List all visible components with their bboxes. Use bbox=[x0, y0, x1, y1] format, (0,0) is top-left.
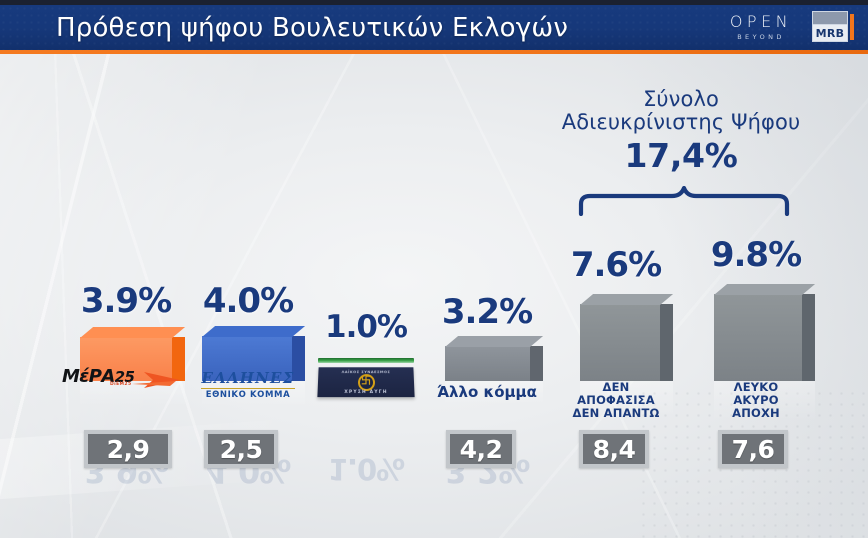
mera25-diem-text: DiEM25 bbox=[110, 382, 132, 387]
bar-value-label-xrysi-avgi: 1.0% bbox=[308, 309, 424, 345]
bar-rect-allo-komma bbox=[445, 346, 530, 381]
previous-value-text-ellines: 2,5 bbox=[220, 435, 263, 464]
bar-top-lefko-akyro bbox=[714, 284, 815, 295]
bar-value-label-lefko-akyro: 9.8% bbox=[690, 235, 822, 275]
bar-top-ellines bbox=[202, 326, 305, 337]
xrysi-avgi-top-text: ΛΑΪΚΟΣ ΣΥΝΔΕΣΜΟΣ bbox=[318, 370, 413, 374]
bar-caption-lefko-akyro: ΛΕΥΚΟ ΑΚΥΡΟ ΑΠΟΧΗ bbox=[690, 381, 822, 421]
mrb-logo: MRB bbox=[812, 11, 848, 42]
bar-value-label-allo-komma: 3.2% bbox=[425, 292, 549, 332]
mrb-logo-top-block bbox=[812, 11, 848, 24]
bar-column-den-apofasisa[interactable]: 7.6% ΔΕΝ ΑΠΟΦΑΣΙΣΑ ΔΕΝ ΑΠΑΝΤΩ 8,4 bbox=[552, 54, 680, 538]
previous-value-badge-mera25: 2,9 bbox=[84, 430, 172, 468]
bar-rect-lefko-akyro bbox=[714, 294, 802, 381]
previous-value-text-allo-komma: 4,2 bbox=[460, 435, 503, 464]
ellines-logo-sub: ΕΘΝΙΚΟ ΚΟΜΜΑ bbox=[186, 390, 310, 400]
bar-column-allo-komma[interactable]: 3.2% 3.2% Άλλο κόμμα 4,2 bbox=[425, 54, 549, 538]
bar-column-lefko-akyro[interactable]: 9.8% ΛΕΥΚΟ ΑΚΥΡΟ ΑΠΟΧΗ 7,6 bbox=[690, 54, 822, 538]
previous-value-text-mera25: 2,9 bbox=[107, 435, 150, 464]
previous-value-text-den-apofasisa: 8,4 bbox=[593, 435, 636, 464]
ellines-logo-main: ΕΛΛΗΝΕΣ bbox=[201, 369, 294, 389]
bar-value-label-den-apofasisa: 7.6% bbox=[552, 245, 680, 285]
open-logo-sub: BEYOND bbox=[718, 34, 804, 41]
xrysi-avgi-bottom-text: ΧΡΥΣΗ ΑΥΓΗ bbox=[317, 390, 414, 395]
bar-caption-line3-den-apofasisa: ΔΕΝ ΑΠΑΝΤΩ bbox=[552, 407, 680, 420]
open-beyond-logo: OPEN BEYOND bbox=[718, 14, 804, 41]
bar-top-allo-komma bbox=[445, 336, 543, 347]
open-logo-main: OPEN bbox=[718, 14, 804, 30]
bar-face-allo-komma bbox=[445, 346, 530, 381]
bar-caption-allo-komma: Άλλο κόμμα bbox=[425, 384, 549, 401]
mrb-logo-text: MRB bbox=[816, 27, 845, 40]
bar-face-den-apofasisa bbox=[580, 304, 660, 381]
bar-caption-line3-lefko-akyro: ΑΠΟΧΗ bbox=[690, 407, 822, 420]
bar-value-label-ellines: 4.0% bbox=[186, 281, 310, 321]
xrysi-avgi-meander-icon: 卐 bbox=[361, 377, 371, 387]
party-logo-ellines: ΕΛΛΗΝΕΣ ΕΘΝΙΚΟ ΚΟΜΜΑ bbox=[186, 368, 310, 400]
bar-top-mera25 bbox=[80, 327, 185, 338]
header-orange-accent bbox=[850, 14, 854, 40]
bar-side-den-apofasisa bbox=[660, 304, 673, 381]
previous-value-badge-ellines: 2,5 bbox=[204, 430, 278, 468]
bar-side-allo-komma bbox=[530, 346, 543, 381]
mrb-logo-bottom-block: MRB bbox=[812, 24, 848, 42]
previous-value-badge-den-apofasisa: 8,4 bbox=[579, 430, 649, 468]
xrysi-avgi-plate: ΛΑΪΚΟΣ ΣΥΝΔΕΣΜΟΣ 卐 ΧΡΥΣΗ ΑΥΓΗ bbox=[317, 367, 414, 397]
page-title: Πρόθεση ψήφου Βουλευτικών Εκλογών bbox=[56, 7, 568, 48]
previous-value-badge-lefko-akyro: 7,6 bbox=[718, 430, 788, 468]
bar-chart: 3.9% 3.9% ΜέΡΑ25 DiEM25 2,9 4 bbox=[0, 54, 868, 538]
party-logo-xrysi-avgi: ΛΑΪΚΟΣ ΣΥΝΔΕΣΜΟΣ 卐 ΧΡΥΣΗ ΑΥΓΗ bbox=[318, 358, 414, 397]
bar-top-den-apofasisa bbox=[580, 294, 673, 305]
xrysi-avgi-green-bar bbox=[318, 358, 414, 363]
bar-face-lefko-akyro bbox=[714, 294, 802, 381]
bar-column-ellines[interactable]: 4.0% 4.0% ΕΛΛΗΝΕΣ ΕΘΝΙΚΟ ΚΟΜΜΑ 2,5 bbox=[186, 54, 310, 538]
party-logo-mera25: ΜέΡΑ25 DiEM25 bbox=[58, 364, 194, 390]
bar-value-ghost-xrysi-avgi: 1.0% bbox=[308, 452, 424, 486]
xrysi-avgi-emblem: 卐 bbox=[357, 374, 374, 391]
bar-side-lefko-akyro bbox=[802, 294, 815, 381]
infographic-screen: Πρόθεση ψήφου Βουλευτικών Εκλογών OPEN B… bbox=[0, 0, 868, 538]
mera25-name: ΜέΡΑ bbox=[62, 366, 115, 387]
previous-value-badge-allo-komma: 4,2 bbox=[446, 430, 516, 468]
previous-value-text-lefko-akyro: 7,6 bbox=[732, 435, 775, 464]
bar-column-xrysi-avgi[interactable]: 1.0% 1.0% ΛΑΪΚΟΣ ΣΥΝΔΕΣΜΟΣ 卐 ΧΡΥΣΗ ΑΥΓΗ bbox=[308, 54, 424, 538]
bar-caption-den-apofasisa: ΔΕΝ ΑΠΟΦΑΣΙΣΑ ΔΕΝ ΑΠΑΝΤΩ bbox=[552, 381, 680, 421]
bar-rect-den-apofasisa bbox=[580, 304, 660, 381]
bar-column-mera25[interactable]: 3.9% 3.9% ΜέΡΑ25 DiEM25 2,9 bbox=[58, 54, 194, 538]
bar-value-label-mera25: 3.9% bbox=[58, 281, 194, 321]
